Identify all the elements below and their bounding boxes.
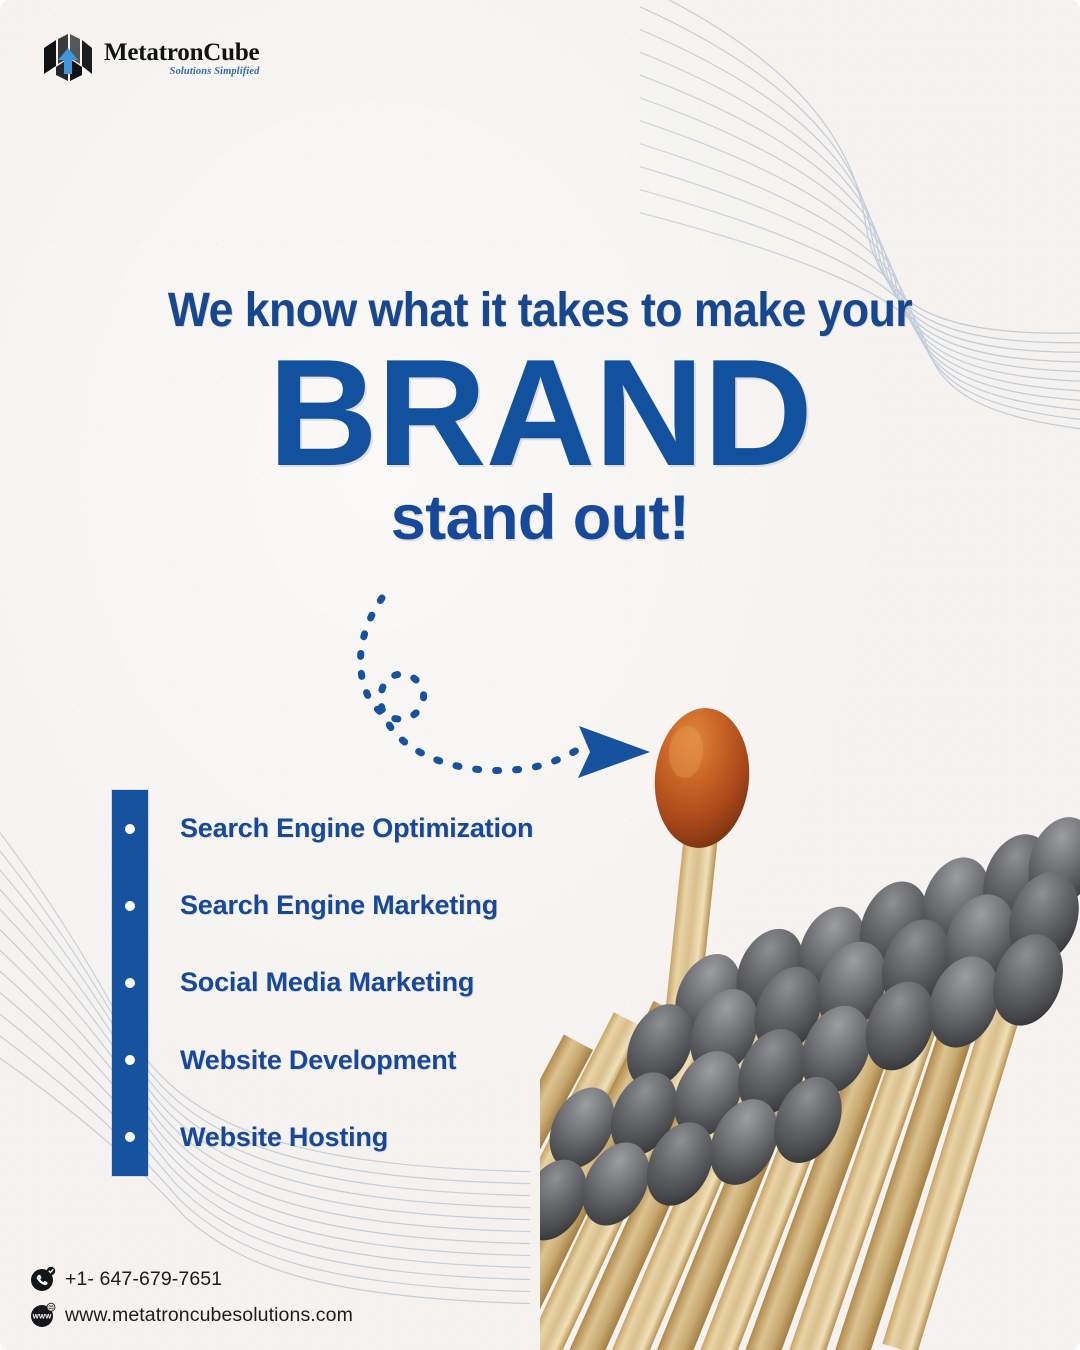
services-list-block: Search Engine Optimization Search Engine… [112, 790, 612, 1176]
contact-phone-row[interactable]: +1- 647-679-7651 [30, 1266, 353, 1292]
svg-text:WWW: WWW [33, 1314, 52, 1321]
poster-canvas: MetatronCube Solutions Simplified We kno… [0, 0, 1080, 1350]
services-list: Search Engine Optimization Search Engine… [112, 790, 612, 1176]
bullet-dot-icon [112, 1055, 148, 1065]
footer-contact: +1- 647-679-7651 WWW www.metatroncubesol… [30, 1266, 353, 1328]
list-item-label: Social Media Marketing [180, 967, 474, 998]
list-item-label: Website Development [180, 1045, 456, 1076]
headline-line-2-brand: BRAND [0, 342, 1080, 485]
list-item[interactable]: Search Engine Marketing [112, 886, 612, 926]
list-item-label: Website Hosting [180, 1122, 388, 1153]
headline-block: We know what it takes to make your BRAND… [0, 286, 1080, 550]
contact-website-row[interactable]: WWW www.metatroncubesolutions.com [30, 1302, 353, 1328]
list-item-label: Search Engine Marketing [180, 890, 498, 921]
bullet-dot-icon [112, 1132, 148, 1142]
website-url: www.metatroncubesolutions.com [65, 1304, 353, 1327]
brand-logo[interactable]: MetatronCube Solutions Simplified [42, 34, 259, 84]
bullet-dot-icon [112, 901, 148, 911]
list-item[interactable]: Website Hosting [112, 1117, 612, 1157]
list-item[interactable]: Social Media Marketing [112, 963, 612, 1003]
bullet-dot-icon [112, 824, 148, 834]
cube-arrow-up-icon [42, 34, 94, 84]
phone-icon [30, 1266, 56, 1292]
brand-name: MetatronCube [104, 40, 259, 65]
phone-number: +1- 647-679-7651 [65, 1268, 222, 1291]
globe-www-icon: WWW [30, 1302, 56, 1328]
list-item-label: Search Engine Optimization [180, 813, 533, 844]
bullet-dot-icon [112, 978, 148, 988]
list-item[interactable]: Search Engine Optimization [112, 809, 612, 849]
dashed-curved-arrow-icon [350, 592, 680, 812]
list-item[interactable]: Website Development [112, 1040, 612, 1080]
brand-tagline: Solutions Simplified [104, 67, 259, 78]
